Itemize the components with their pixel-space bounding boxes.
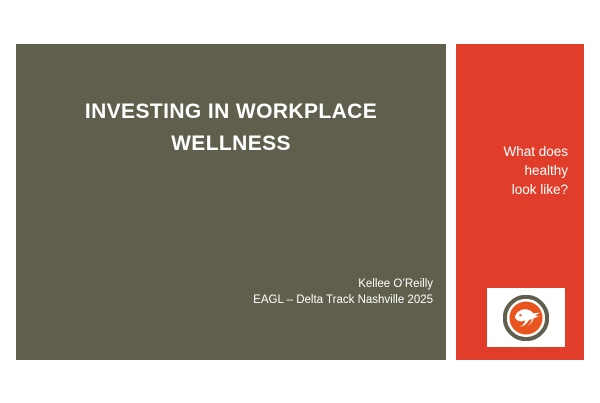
author-name: Kellee O’Reilly [253, 276, 433, 292]
title-block: INVESTING IN WORKPLACE WELLNESS [16, 96, 446, 160]
title-panel: INVESTING IN WORKPLACE WELLNESS Kellee O… [16, 44, 446, 360]
author-block: Kellee O’Reilly EAGL – Delta Track Nashv… [253, 276, 433, 308]
side-question-text: What does healthy look like? [468, 142, 568, 199]
slide-canvas: INVESTING IN WORKPLACE WELLNESS Kellee O… [0, 0, 600, 403]
accent-panel: What does healthy look like? [456, 44, 584, 360]
logo-container [487, 288, 565, 347]
page-title: INVESTING IN WORKPLACE WELLNESS [44, 96, 418, 160]
author-affiliation: EAGL – Delta Track Nashville 2025 [253, 292, 433, 308]
eagle-head-circle-logo-icon [503, 295, 549, 341]
